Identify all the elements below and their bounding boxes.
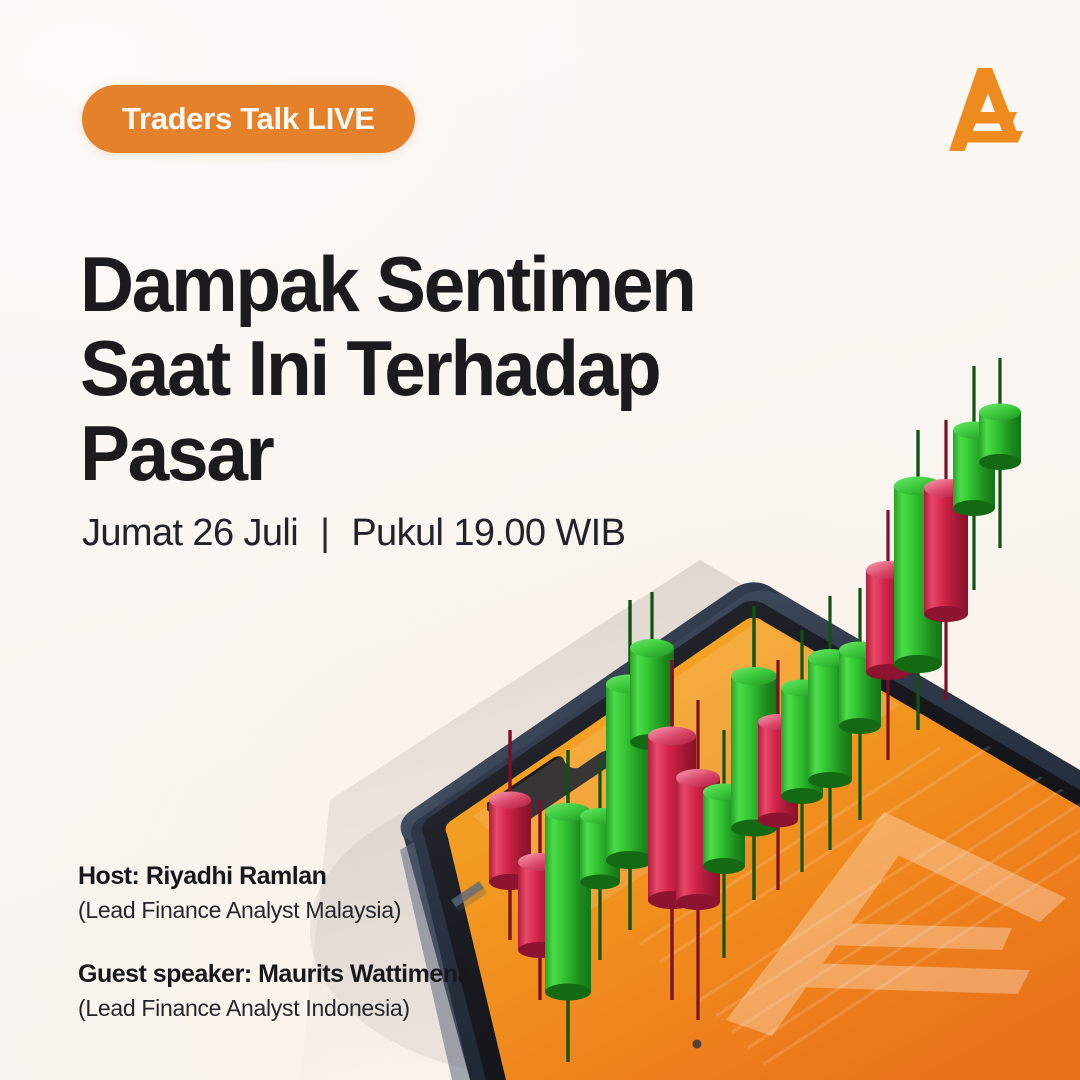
schedule-time: Pukul 19.00 WIB bbox=[351, 512, 625, 554]
poster-canvas: Traders Talk LIVE Dampak Sentimen Saat I… bbox=[0, 0, 1080, 1080]
headline-line-1: Dampak Sentimen bbox=[80, 242, 810, 326]
speaker-host-role: (Lead Finance Analyst Malaysia) bbox=[78, 897, 471, 924]
speakers-block: Host: Riyadhi Ramlan (Lead Finance Analy… bbox=[78, 862, 471, 1022]
speaker-host-name: Host: Riyadhi Ramlan bbox=[78, 862, 471, 891]
headline-line-3: Pasar bbox=[80, 411, 810, 495]
page-title: Dampak Sentimen Saat Ini Terhadap Pasar bbox=[80, 242, 810, 495]
live-badge: Traders Talk LIVE bbox=[82, 85, 415, 153]
speaker-guest-name: Guest speaker: Maurits Wattimena bbox=[78, 960, 471, 989]
schedule-separator: | bbox=[320, 512, 329, 555]
live-badge-label: Traders Talk LIVE bbox=[122, 101, 375, 137]
schedule-date: Jumat 26 Juli bbox=[82, 512, 298, 554]
schedule-line: Jumat 26 Juli | Pukul 19.00 WIB bbox=[82, 512, 625, 555]
octa-a-logo-icon bbox=[931, 58, 1035, 162]
speaker-guest-role: (Lead Finance Analyst Indonesia) bbox=[78, 995, 471, 1022]
speaker-guest: Guest speaker: Maurits Wattimena (Lead F… bbox=[78, 960, 471, 1022]
headline-line-2: Saat Ini Terhadap bbox=[80, 326, 810, 410]
speaker-host: Host: Riyadhi Ramlan (Lead Finance Analy… bbox=[78, 862, 471, 924]
